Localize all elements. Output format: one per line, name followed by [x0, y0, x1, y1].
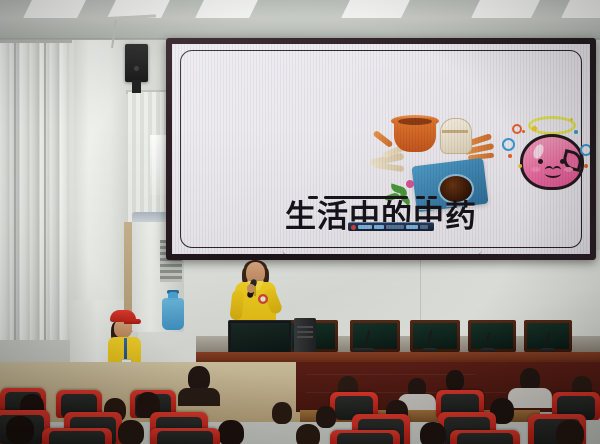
audience-head — [118, 420, 144, 444]
record-indicator-icon — [351, 225, 356, 230]
progress-segment — [420, 225, 428, 229]
ceiling-light — [471, 0, 541, 18]
pink-blob-mascot — [516, 116, 582, 188]
pc-vent-line — [297, 336, 313, 338]
window-frame — [14, 40, 16, 340]
confetti-dot — [518, 164, 522, 168]
speaker-cone — [134, 66, 139, 71]
wall-speaker — [125, 44, 148, 82]
ceiling-light — [341, 0, 411, 18]
herb-bundle — [440, 118, 472, 154]
progress-segment — [406, 225, 418, 229]
auditorium-seat — [150, 428, 220, 444]
confetti-dot — [574, 130, 578, 134]
audience-shoulder — [178, 388, 220, 406]
audience-head — [556, 420, 584, 444]
blind-slat — [30, 40, 39, 340]
confetti-dot — [584, 164, 588, 168]
seat-cushion — [337, 433, 393, 444]
mascot-cheek — [531, 167, 540, 172]
confetti-ring — [502, 138, 515, 151]
mascot-eye — [538, 159, 543, 164]
audience-head — [272, 402, 292, 424]
ceiling-light — [23, 0, 87, 18]
progress-segment — [358, 225, 372, 229]
speaker-bracket — [132, 80, 141, 93]
audience-head — [446, 370, 464, 391]
auditorium-seat — [42, 428, 112, 444]
confetti-dot — [508, 154, 512, 158]
smile-underline — [282, 232, 482, 254]
progress-segment — [386, 225, 404, 229]
pink-flower — [406, 180, 414, 188]
mascot-mouth — [545, 169, 561, 178]
seated-audience — [0, 362, 600, 444]
monitor-screen — [471, 323, 513, 349]
auditorium-seat — [450, 430, 520, 444]
seat-cushion — [157, 431, 213, 444]
audience-head — [6, 416, 34, 444]
auditorium-seat — [330, 430, 400, 444]
blind-slat — [50, 40, 59, 340]
presenter-lanyard — [254, 286, 256, 296]
blind-slat — [0, 40, 9, 340]
blind-slat — [20, 40, 29, 340]
blind-slat — [60, 40, 69, 340]
water-cooler-bottle — [162, 298, 184, 330]
progress-segment — [374, 225, 384, 229]
mascot-cheek — [564, 167, 573, 172]
audience-shoulder — [508, 388, 552, 408]
audience-head — [296, 424, 320, 444]
volunteer-lanyard — [124, 338, 127, 360]
mascot-body — [520, 134, 584, 190]
pc-vent-line — [297, 331, 313, 333]
confetti-dot — [522, 130, 525, 133]
pc-vent-line — [297, 326, 313, 328]
bundle-tie — [442, 130, 468, 133]
audience-head — [218, 420, 244, 444]
mascot-eye — [560, 159, 565, 164]
confetti-ring — [512, 124, 522, 134]
orange-root — [372, 130, 393, 148]
seat-cushion — [457, 433, 513, 444]
monitor-screen — [353, 323, 397, 349]
mascot-highlight — [532, 143, 546, 160]
confetti-dot — [570, 118, 573, 121]
monitor-screen — [413, 323, 457, 349]
confetti-ring — [580, 144, 590, 156]
audience-head — [316, 406, 336, 428]
audience-head — [420, 422, 446, 444]
ceiling-light — [195, 0, 259, 18]
ceiling-light — [561, 0, 600, 18]
mortar-interior — [398, 118, 432, 125]
window-frame — [0, 40, 72, 43]
seat-cushion — [49, 431, 105, 444]
presenter-badge — [258, 294, 268, 304]
video-progress-bar[interactable] — [348, 222, 434, 231]
cap-brim — [124, 319, 141, 324]
ceiling — [0, 0, 600, 40]
lecture-hall-photo: 贵州中医药大学第二附属 厚德明志 · 笃学力行 — [0, 0, 600, 444]
dried-root — [374, 162, 405, 172]
slide-content: 贵州中医药大学第二附属 厚德明志 · 笃学力行 — [172, 44, 590, 254]
window-frame — [44, 40, 46, 340]
